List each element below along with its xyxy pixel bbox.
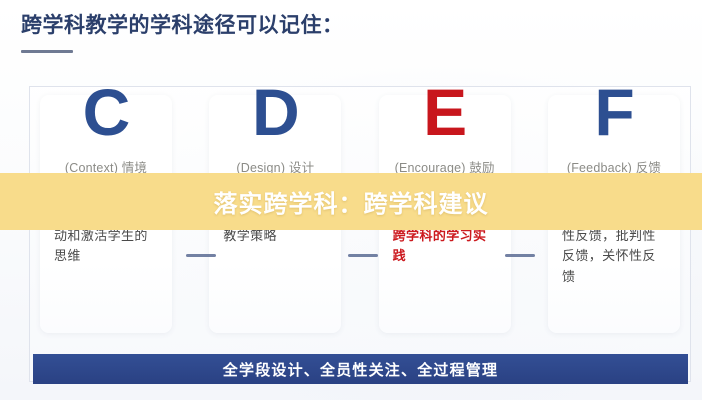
page-title: 跨学科教学的学科途径可以记住： [21,13,661,38]
watermark-overlay-band: 落实跨学科：跨学科建议 [0,173,702,230]
card-letter-e: E [423,79,466,145]
bottom-summary-bar: 全学段设计、全员性关注、全过程管理 [33,354,688,384]
connector-dash-1 [186,254,216,257]
bottom-summary-text: 全学段设计、全员性关注、全过程管理 [223,359,498,380]
watermark-overlay-text: 落实跨学科：跨学科建议 [214,184,489,219]
connector-dash-3 [505,254,535,257]
card-letter-f: F [594,79,633,145]
title-underline-rule [21,50,73,53]
title-block: 跨学科教学的学科途径可以记住： [21,13,661,53]
card-letter-c: C [83,79,130,145]
card-letter-d: D [252,79,299,145]
connector-dash-2 [348,254,378,257]
slide-canvas: 跨学科教学的学科途径可以记住： C (Context) 情境 教师要创设真实的问… [0,0,702,400]
